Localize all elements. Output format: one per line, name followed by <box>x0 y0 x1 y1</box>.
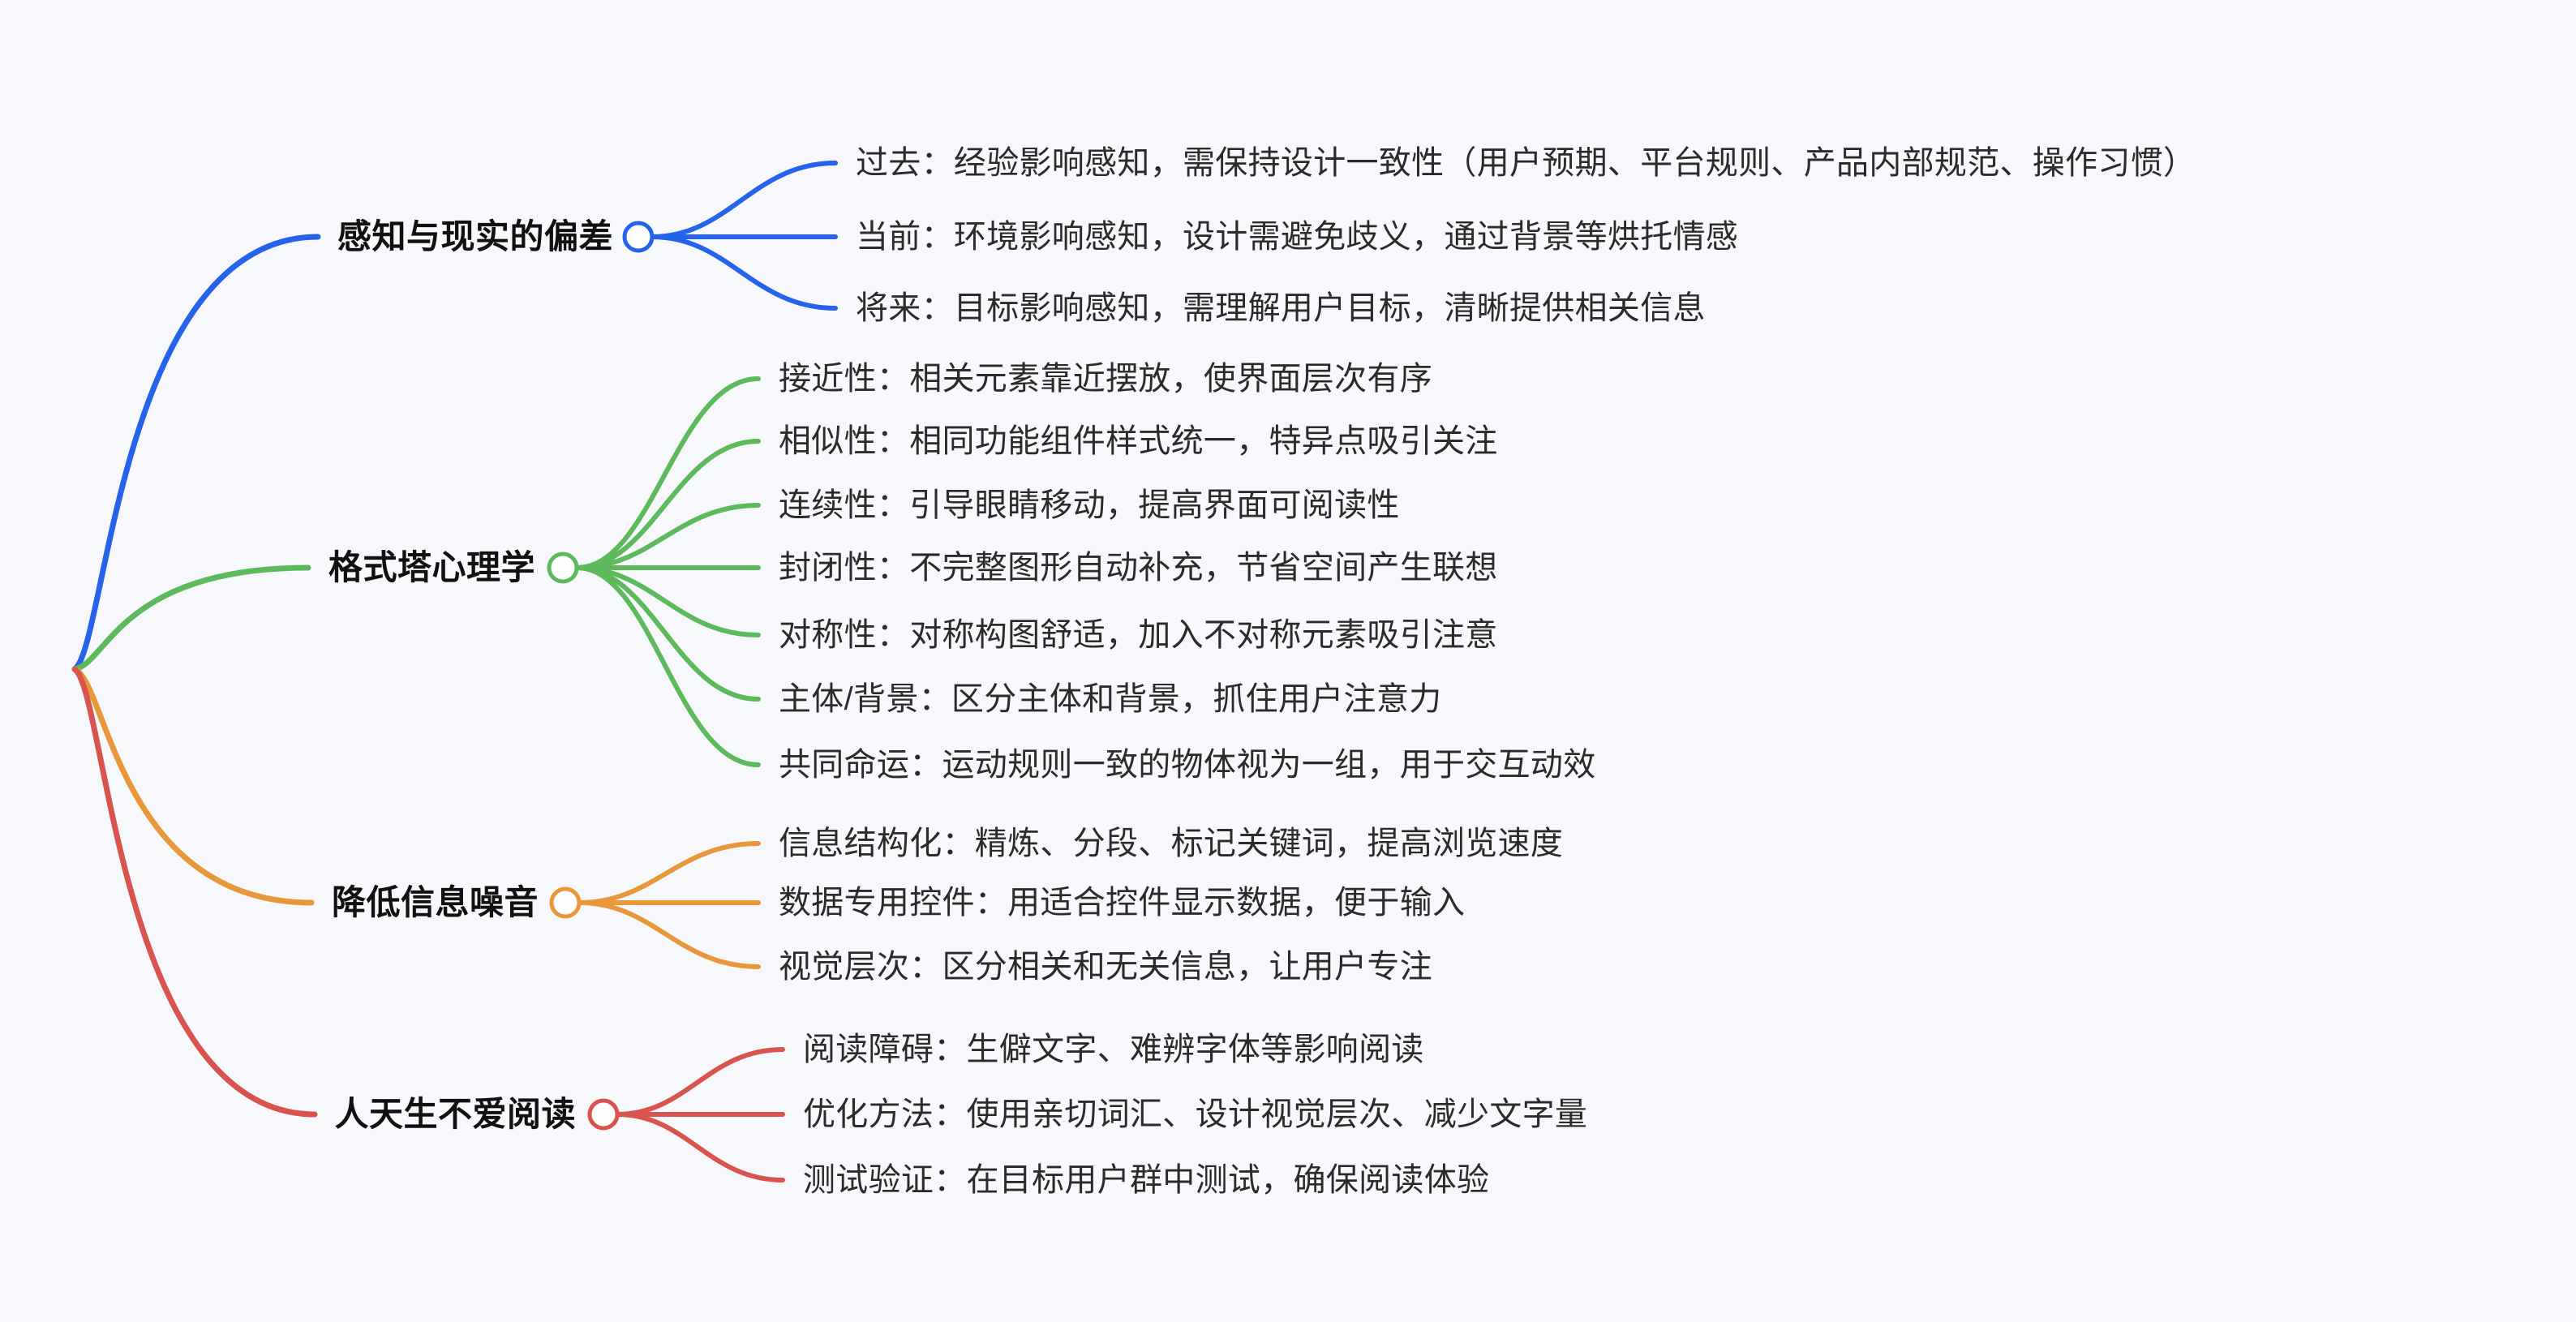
leaf-connector-test-validation <box>617 1114 783 1180</box>
leaf-connector-visual-hierarchy <box>579 903 758 967</box>
leaf-label-continuity[interactable]: 连续性：引导眼睛移动，提高界面可阅读性 <box>779 489 1400 522</box>
leaf-connector-common-fate <box>577 568 758 765</box>
leaf-label-data-specific-controls[interactable]: 数据专用控件：用适合控件显示数据，便于输入 <box>779 886 1465 919</box>
leaf-label-visual-hierarchy[interactable]: 视觉层次：区分相关和无关信息，让用户专注 <box>779 951 1432 983</box>
leaf-label-common-fate[interactable]: 共同命运：运动规则一致的物体视为一组，用于交互动效 <box>779 749 1596 781</box>
mindmap-canvas: 感知与现实的偏差过去：经验影响感知，需保持设计一致性（用户预期、平台规则、产品内… <box>0 0 2576 1322</box>
leaf-label-information-structuring[interactable]: 信息结构化：精炼、分段、标记关键词，提高浏览速度 <box>779 827 1563 860</box>
leaf-label-optimization-methods[interactable]: 优化方法：使用亲切词汇、设计视觉层次、减少文字量 <box>803 1098 1587 1131</box>
branch-label-gestalt-psychology[interactable]: 格式塔心理学 <box>0 551 535 585</box>
leaf-label-closure[interactable]: 封闭性：不完整图形自动补充，节省空间产生联想 <box>779 552 1498 584</box>
leaf-label-reading-barriers[interactable]: 阅读障碍：生僻文字、难辨字体等影响阅读 <box>803 1033 1424 1066</box>
leaf-label-proximity[interactable]: 接近性：相关元素靠近摆放，使界面层次有序 <box>779 363 1432 395</box>
leaf-label-future[interactable]: 将来：目标影响感知，需理解用户目标，清晰提供相关信息 <box>856 292 1706 324</box>
branch-node-perception-reality-gap[interactable] <box>625 223 652 251</box>
leaf-label-similarity[interactable]: 相似性：相同功能组件样式统一，特异点吸引关注 <box>779 425 1498 457</box>
branch-label-reduce-information-noise[interactable]: 降低信息噪音 <box>0 886 539 920</box>
leaf-label-symmetry[interactable]: 对称性：对称构图舒适，加入不对称元素吸引注意 <box>779 619 1498 651</box>
leaf-label-test-validation[interactable]: 测试验证：在目标用户群中测试，确保阅读体验 <box>803 1164 1489 1196</box>
leaf-label-figure-ground[interactable]: 主体/背景：区分主体和背景，抓住用户注意力 <box>779 683 1441 715</box>
branch-node-reduce-information-noise[interactable] <box>552 889 579 916</box>
leaf-connector-proximity <box>577 379 758 568</box>
leaf-connector-past <box>652 163 835 237</box>
leaf-connector-similarity <box>577 441 758 568</box>
leaf-label-present[interactable]: 当前：环境影响感知，设计需避免歧义，通过背景等烘托情感 <box>856 221 1738 253</box>
leaf-connector-future <box>652 237 835 308</box>
leaf-label-past[interactable]: 过去：经验影响感知，需保持设计一致性（用户预期、平台规则、产品内部规范、操作习惯… <box>856 147 2196 179</box>
branch-trunk-reduce-information-noise <box>75 669 311 903</box>
leaf-connector-information-structuring <box>579 843 758 903</box>
leaf-connector-reading-barriers <box>617 1049 783 1114</box>
branch-label-people-dislike-reading[interactable]: 人天生不爱阅读 <box>0 1097 576 1131</box>
branch-node-gestalt-psychology[interactable] <box>549 554 577 582</box>
branch-node-people-dislike-reading[interactable] <box>590 1101 617 1128</box>
branch-label-perception-reality-gap[interactable]: 感知与现实的偏差 <box>0 220 613 254</box>
branch-trunk-perception-reality-gap <box>75 237 318 669</box>
